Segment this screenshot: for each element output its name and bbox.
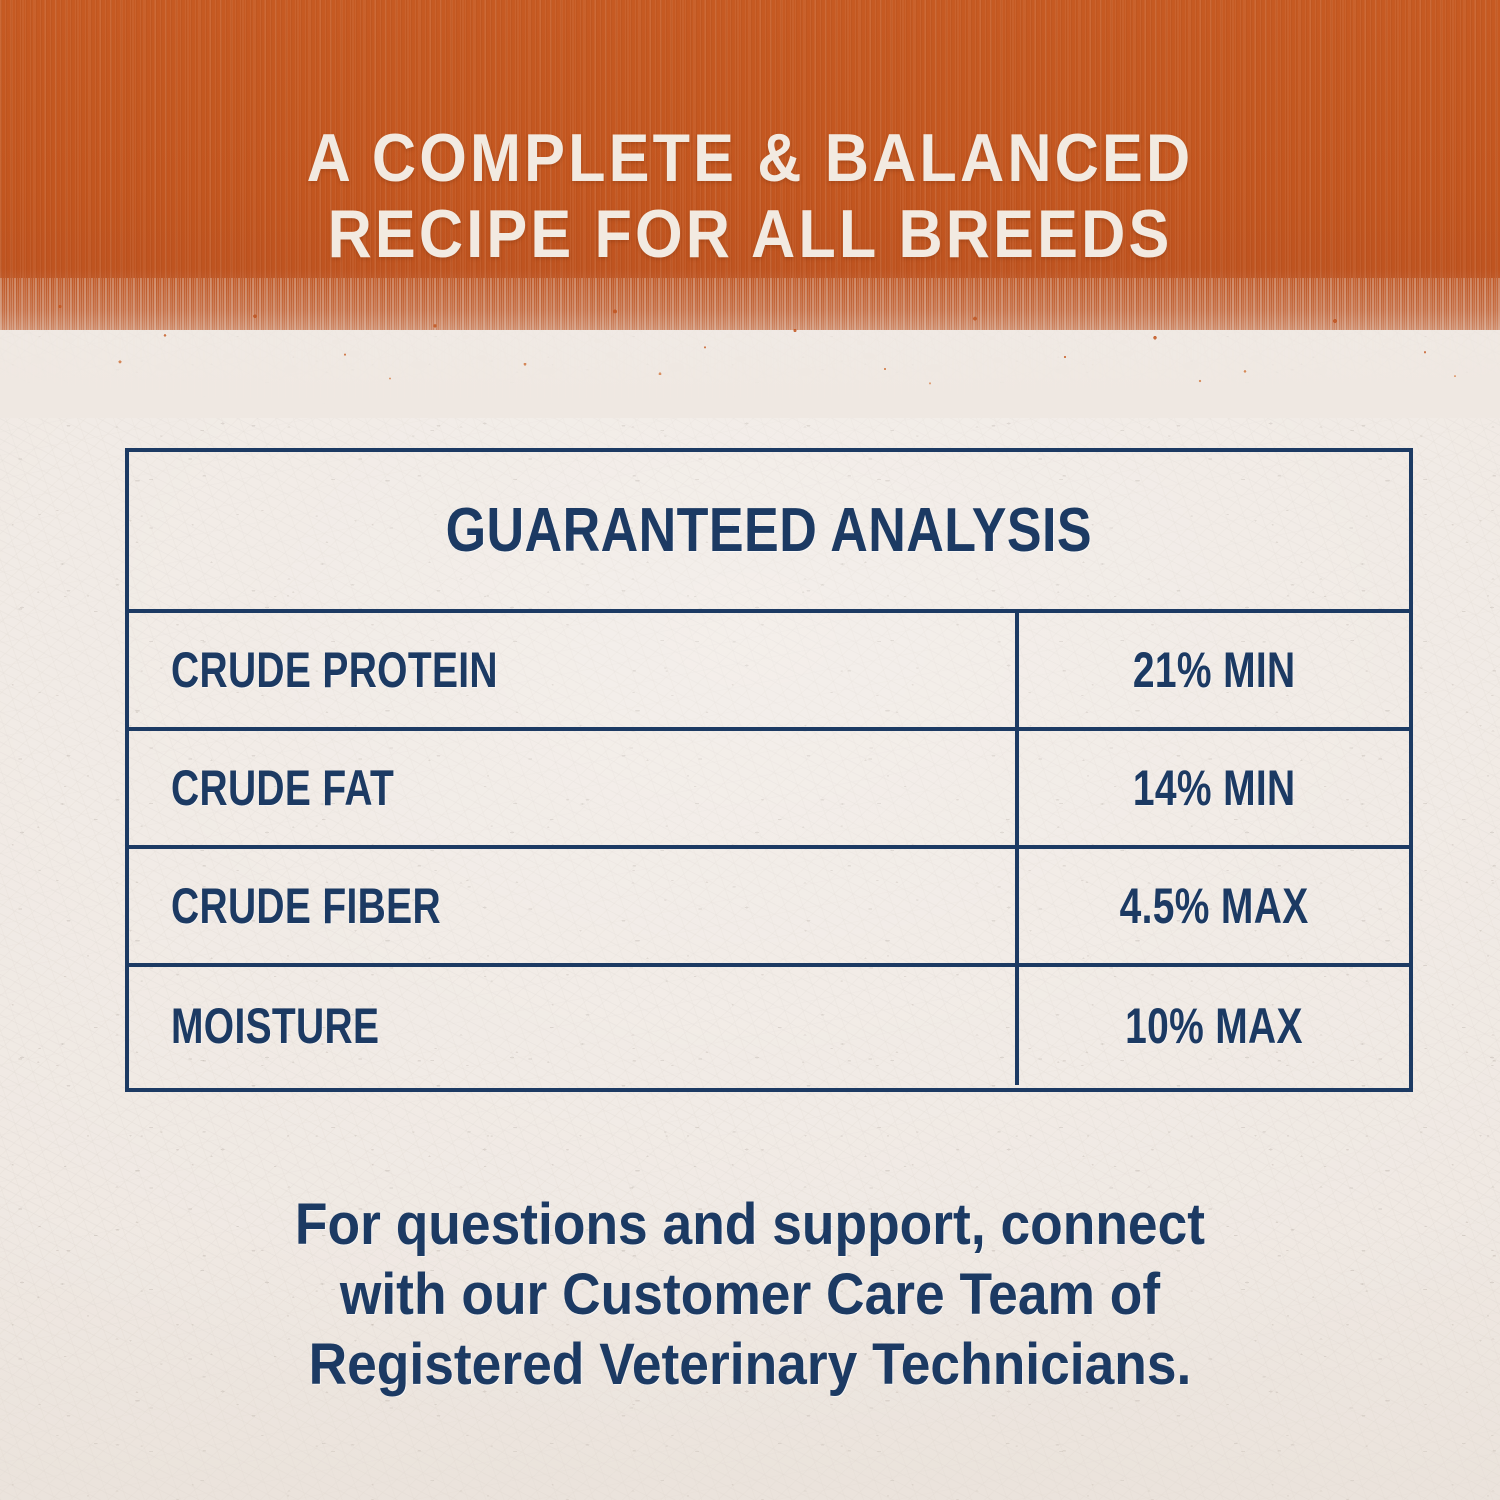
customer-care-note: For questions and support, connect with … xyxy=(170,1190,1329,1400)
nutrient-name: CRUDE PROTEIN xyxy=(171,641,498,699)
nutrient-name: CRUDE FIBER xyxy=(171,877,441,935)
customer-care-line-2: with our Customer Care Team of xyxy=(170,1260,1329,1330)
banner-headline: A COMPLETE & BALANCED RECIPE FOR ALL BRE… xyxy=(75,120,1425,272)
nutrient-amount: 21% MIN xyxy=(1133,641,1296,699)
guaranteed-analysis-title: GUARANTEED ANALYSIS xyxy=(446,495,1093,566)
nutrient-label-cell: CRUDE PROTEIN xyxy=(129,613,1019,727)
guaranteed-analysis-table: GUARANTEED ANALYSIS CRUDE PROTEIN 21% MI… xyxy=(125,448,1413,1092)
customer-care-line-3: Registered Veterinary Technicians. xyxy=(170,1330,1329,1400)
headline-line-2: RECIPE FOR ALL BREEDS xyxy=(75,196,1425,272)
table-row: CRUDE FIBER 4.5% MAX xyxy=(129,849,1409,967)
table-row: CRUDE FAT 14% MIN xyxy=(129,731,1409,849)
nutrient-name: MOISTURE xyxy=(171,997,379,1055)
nutrient-value-cell: 14% MIN xyxy=(1019,731,1409,845)
nutrient-value-cell: 4.5% MAX xyxy=(1019,849,1409,963)
product-info-panel: A COMPLETE & BALANCED RECIPE FOR ALL BRE… xyxy=(0,0,1500,1500)
nutrient-amount: 14% MIN xyxy=(1133,759,1296,817)
headline-line-1: A COMPLETE & BALANCED xyxy=(75,120,1425,196)
nutrient-label-cell: MOISTURE xyxy=(129,967,1019,1085)
nutrient-amount: 10% MAX xyxy=(1125,997,1303,1055)
nutrient-value-cell: 10% MAX xyxy=(1019,967,1409,1085)
nutrient-name: CRUDE FAT xyxy=(171,759,394,817)
customer-care-line-1: For questions and support, connect xyxy=(170,1190,1329,1260)
nutrient-label-cell: CRUDE FAT xyxy=(129,731,1019,845)
nutrient-amount: 4.5% MAX xyxy=(1120,877,1309,935)
guaranteed-analysis-header: GUARANTEED ANALYSIS xyxy=(129,452,1409,613)
table-row: CRUDE PROTEIN 21% MIN xyxy=(129,613,1409,731)
nutrient-value-cell: 21% MIN xyxy=(1019,613,1409,727)
table-row: MOISTURE 10% MAX xyxy=(129,967,1409,1085)
nutrient-label-cell: CRUDE FIBER xyxy=(129,849,1019,963)
